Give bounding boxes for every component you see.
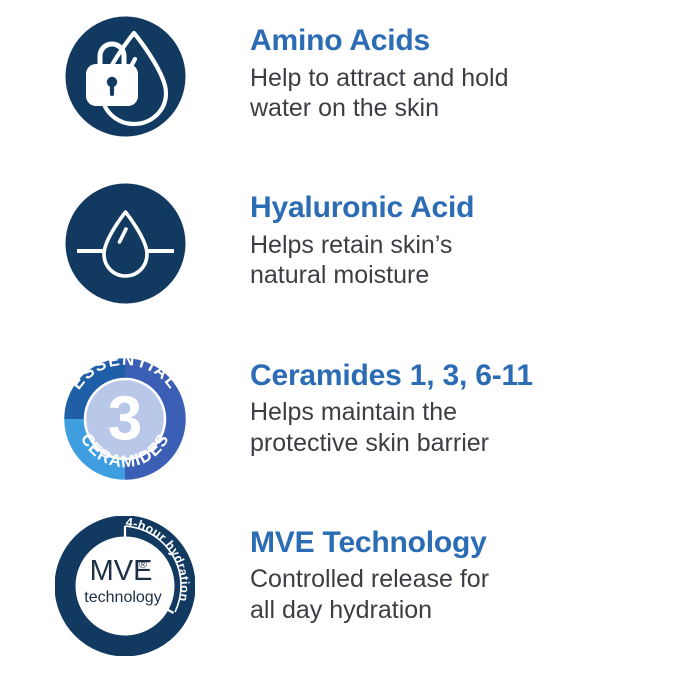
mve-registered-mark: ® — [139, 559, 147, 571]
benefit-description: Controlled release for all day hydration — [250, 564, 665, 625]
mve-center-secondary-text: technology — [84, 589, 161, 606]
benefit-description-line: Help to attract and hold — [250, 63, 665, 94]
benefit-row-mve-technology: 24-hour hydration MVE ® technology MVE T… — [0, 512, 679, 679]
icon-cell-ceramides: ESSENTIAL CERAMIDES 3 — [0, 345, 250, 489]
benefit-description-line: Helps maintain the — [250, 397, 665, 428]
benefit-title: Ceramides 1, 3, 6-11 — [250, 361, 665, 392]
droplet-line-icon — [63, 181, 188, 306]
benefit-description: Helps retain skin’s natural moisture — [250, 230, 665, 291]
benefit-row-hyaluronic-acid: Hyaluronic Acid Helps retain skin’s natu… — [0, 177, 679, 344]
icon-cell-amino-acids — [0, 10, 250, 139]
benefit-description-line: Controlled release for — [250, 564, 665, 595]
icon-cell-mve-technology: 24-hour hydration MVE ® technology — [0, 512, 250, 656]
benefit-title: Amino Acids — [250, 26, 665, 57]
benefit-description-line: all day hydration — [250, 595, 665, 626]
ceramides-center-number: 3 — [108, 384, 142, 453]
text-cell-hyaluronic-acid: Hyaluronic Acid Helps retain skin’s natu… — [250, 177, 679, 291]
benefits-list: Amino Acids Help to attract and hold wat… — [0, 0, 679, 679]
benefit-description-line: water on the skin — [250, 93, 665, 124]
icon-cell-hyaluronic-acid — [0, 177, 250, 306]
benefit-row-amino-acids: Amino Acids Help to attract and hold wat… — [0, 10, 679, 177]
text-cell-amino-acids: Amino Acids Help to attract and hold wat… — [250, 10, 679, 124]
mve-technology-ring-icon: 24-hour hydration MVE ® technology — [55, 516, 195, 656]
benefit-title: MVE Technology — [250, 528, 665, 559]
benefit-description: Helps maintain the protective skin barri… — [250, 397, 665, 458]
text-cell-ceramides: Ceramides 1, 3, 6-11 Helps maintain the … — [250, 345, 679, 459]
benefit-description: Help to attract and hold water on the sk… — [250, 63, 665, 124]
text-cell-mve-technology: MVE Technology Controlled release for al… — [250, 512, 679, 626]
benefit-row-ceramides: ESSENTIAL CERAMIDES 3 Ceramides 1, 3, 6-… — [0, 345, 679, 512]
benefit-description-line: Helps retain skin’s — [250, 230, 665, 261]
benefit-description-line: protective skin barrier — [250, 428, 665, 459]
benefit-description-line: natural moisture — [250, 260, 665, 291]
essential-ceramides-badge-icon: ESSENTIAL CERAMIDES 3 — [55, 349, 195, 489]
lock-droplet-icon — [63, 14, 188, 139]
benefit-title: Hyaluronic Acid — [250, 193, 665, 224]
